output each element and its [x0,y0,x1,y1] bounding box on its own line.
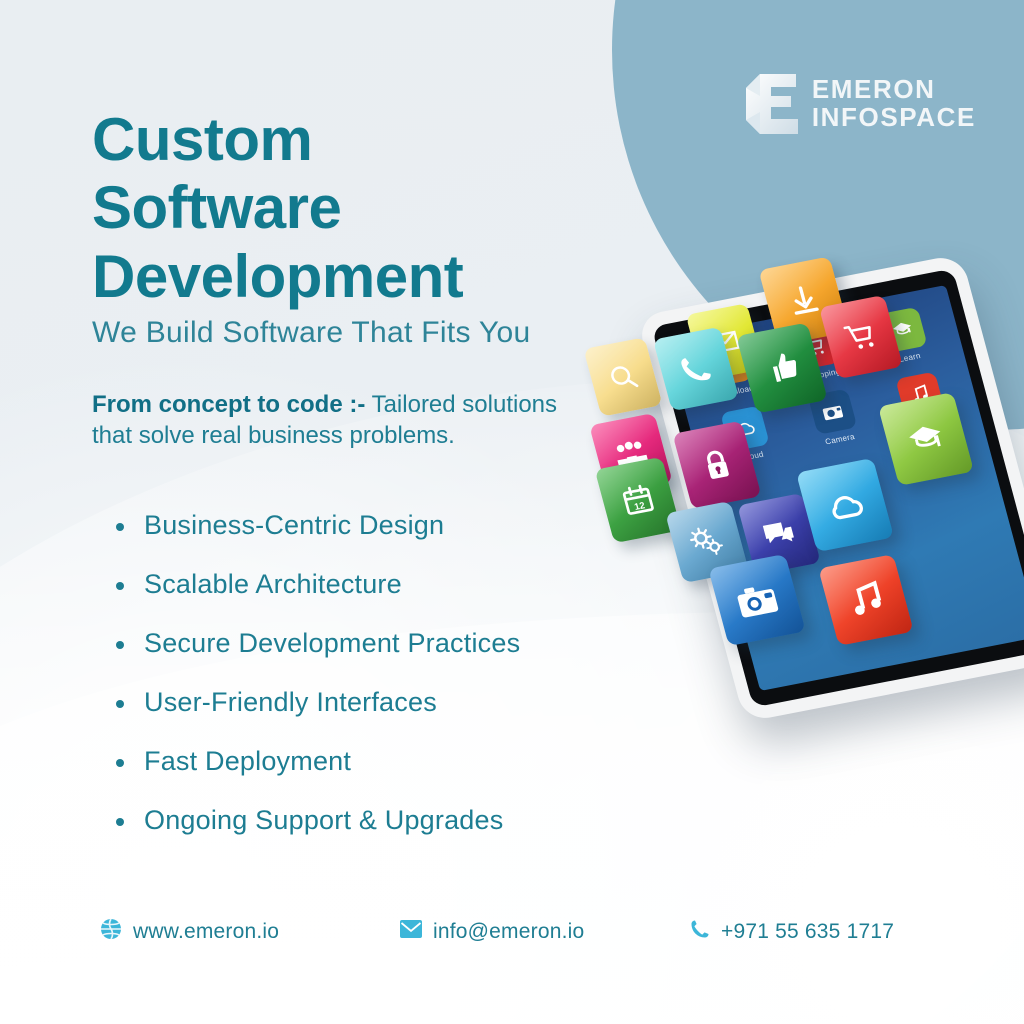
emeron-e-mark-icon [746,74,798,134]
app-label: Learn [898,351,921,364]
feature-label: User-Friendly Interfaces [144,687,437,717]
brand-logo: EMERON INFOSPACE [746,74,976,134]
list-item: Fast Deployment [112,748,712,775]
headline-line-1: Custom [92,106,652,174]
list-item: Ongoing Support & Upgrades [112,807,712,834]
feature-label: Scalable Architecture [144,569,402,599]
poster-canvas: EMERON INFOSPACE Custom Software Develop… [0,0,1024,1024]
contact-bar: www.emeron.io info@emeron.io +971 55 635… [100,918,940,946]
feature-label: Fast Deployment [144,746,351,776]
contact-phone[interactable]: +971 55 635 1717 [690,919,894,945]
phone-icon [690,919,710,945]
tablet-illustration: Download Shopping Learn [600,230,1024,750]
headline-line-3: Development [92,243,652,311]
contact-email[interactable]: info@emeron.io [400,920,690,944]
envelope-icon [400,920,422,944]
svg-text:12: 12 [633,500,646,512]
blurb-paragraph: From concept to code :- Tailored solutio… [92,390,582,451]
email-label: info@emeron.io [433,920,584,944]
globe-icon [100,918,122,946]
logo-line-1: EMERON [812,76,976,104]
contact-website[interactable]: www.emeron.io [100,918,400,946]
logo-line-2: INFOSPACE [812,104,976,132]
page-title: Custom Software Development [92,106,652,311]
headline-line-2: Software [92,174,652,242]
app-label: Camera [824,432,856,446]
phone-label: +971 55 635 1717 [721,920,894,944]
feature-label: Secure Development Practices [144,628,520,658]
brand-logo-text: EMERON INFOSPACE [812,76,976,131]
feature-label: Ongoing Support & Upgrades [144,805,503,835]
blurb-lead: From concept to code :- [92,391,365,418]
website-label: www.emeron.io [133,920,279,944]
feature-label: Business-Centric Design [144,510,444,540]
